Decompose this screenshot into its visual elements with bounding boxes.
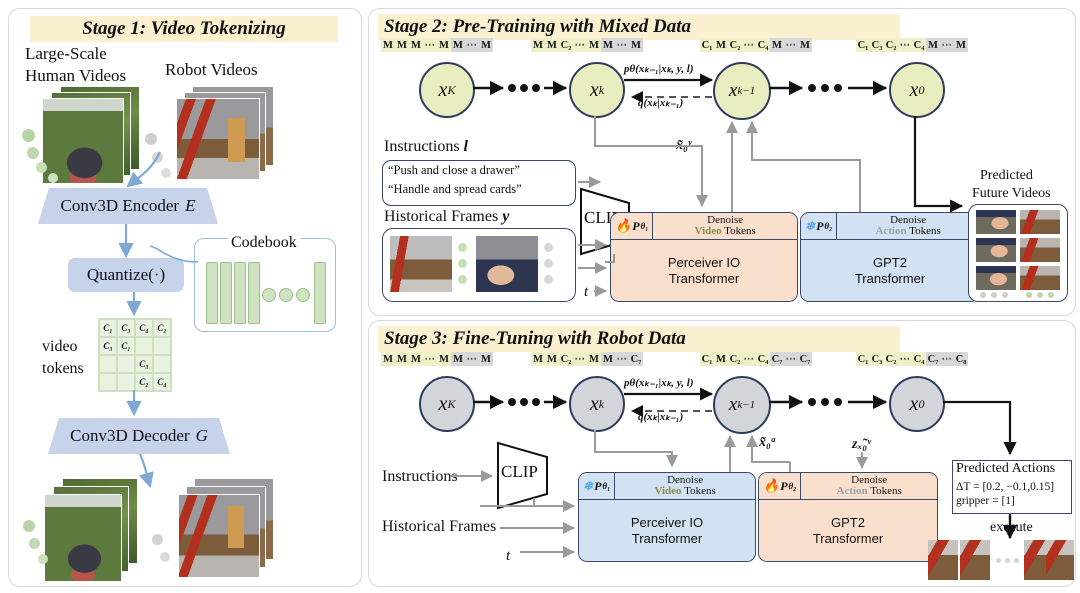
stage2-action-denoise: Denoise Action Tokens	[837, 213, 979, 239]
stage3-predicted-actions-line2: gripper = [1]	[956, 495, 1015, 507]
token-chip: ⋯	[898, 38, 912, 52]
denoise-kind: Action	[875, 225, 906, 237]
token-chip: ⋯	[423, 38, 437, 52]
stage3-t-label: t	[506, 548, 510, 565]
stage2-predicted-label-2: Future Videos	[972, 186, 1051, 202]
stage2-video-module-header: 🔥 Pθ₁ Denoise Video Tokens	[611, 213, 797, 240]
stage3-token-row-1: MMM⋯MM⋯M	[381, 352, 493, 366]
stage2-node-xk-1: xk−1	[713, 62, 771, 120]
stage2-p-forward: pθ(xₖ₋₁|xₖ, y, l)	[624, 62, 694, 75]
token-chip: C₄	[912, 38, 926, 52]
token-chip: ⋯	[898, 352, 912, 366]
token-chip: C₂	[884, 352, 898, 366]
token-cell	[153, 337, 171, 355]
token-cell: C₃	[135, 355, 153, 373]
node-label: x	[729, 80, 737, 102]
denoise-kind: Video	[695, 225, 722, 237]
human-videos-label-line2: Human Videos	[25, 66, 126, 86]
node-label: x	[910, 79, 919, 102]
token-chip: M	[409, 352, 423, 366]
stage2-action-module-header: ❄ Pθ₂ Denoise Action Tokens	[801, 213, 979, 240]
gray-dot-1	[145, 133, 157, 145]
stage3-z-xtilde-v-label: zₓ̃₀ᵛ	[852, 437, 871, 453]
stage2-token-row-4: C₁C₃C₂⋯C₄M⋯M	[856, 38, 968, 52]
instructions-symbol: l	[464, 138, 468, 155]
robot-video-frame-1	[176, 98, 260, 180]
stage3-video-module[interactable]: ❄ Pθ₁ Denoise Video Tokens Perceiver IO …	[578, 472, 756, 562]
stage2-predicted-label-1: Predicted	[980, 168, 1033, 184]
token-chip: M	[531, 352, 545, 366]
body-line2: Transformer	[632, 531, 702, 547]
stage2-node-xK: xK	[419, 62, 475, 118]
param-label: P	[780, 479, 787, 494]
token-chip: C₂	[728, 352, 742, 366]
token-cell: C₄	[135, 319, 153, 337]
node-label: x	[590, 79, 599, 102]
token-chip: ⋯	[742, 352, 756, 366]
stage3-xtilde-a-label: x̃₀ᵃ	[759, 435, 775, 451]
token-cell: C₁	[117, 337, 135, 355]
conv3d-decoder-symbol: G	[196, 426, 208, 446]
token-cell	[153, 355, 171, 373]
stage2-pred-frame-r2c1	[976, 238, 1016, 262]
stage2-node-x0: x0	[889, 62, 945, 118]
stage2-pred-gray-dot-3	[1002, 292, 1008, 298]
video-tokens-label-line1: video	[42, 338, 78, 356]
stage3-action-param: 🔥 Pθ₂	[759, 473, 801, 499]
stage2-hist-green-dot-2	[458, 259, 467, 268]
node-sub: 0	[918, 83, 924, 98]
param-label: P	[632, 219, 639, 234]
stage2-historical-frame-robot	[390, 236, 452, 292]
stage3-node-x0: x0	[889, 376, 945, 432]
node-label: x	[910, 393, 919, 416]
conv3d-encoder-label: Conv3D Encoder	[61, 196, 180, 216]
token-cell	[99, 355, 117, 373]
denoise-tail: Tokens	[682, 485, 716, 497]
gray-dot-3	[161, 168, 171, 178]
recon-green-dot-2	[29, 538, 40, 549]
node-sub: k−1	[737, 85, 755, 97]
token-cell: C₃	[117, 319, 135, 337]
denoise-line2: Action Tokens	[875, 226, 940, 237]
recon-human-frame-1	[44, 494, 122, 582]
stage3-action-module-header: 🔥 Pθ₂ Denoise Action Tokens	[759, 473, 937, 500]
token-chip: C₇	[629, 352, 643, 366]
node-sub: k	[599, 83, 604, 98]
token-chip: M	[381, 352, 395, 366]
token-chip: M	[629, 38, 643, 52]
stage2-action-module[interactable]: ❄ Pθ₂ Denoise Action Tokens GPT2 Transfo…	[800, 212, 980, 302]
token-chip: C₁	[700, 352, 714, 366]
stage3-token-row-2: MMC₂⋯MM⋯C₇	[531, 352, 643, 366]
denoise-kind: Video	[654, 485, 681, 497]
body-line2: Transformer	[813, 531, 883, 547]
stage2-video-module[interactable]: 🔥 Pθ₁ Denoise Video Tokens Perceiver IO …	[610, 212, 798, 302]
stage3-video-module-header: ❄ Pθ₁ Denoise Video Tokens	[579, 473, 755, 500]
body-line1: Perceiver IO	[631, 515, 703, 531]
human-videos-label-line1: Large-Scale	[25, 44, 107, 64]
node-label: x	[729, 394, 737, 416]
token-chip: C₈	[954, 352, 968, 366]
fire-icon: 🔥	[615, 218, 631, 234]
stage3-action-module[interactable]: 🔥 Pθ₂ Denoise Action Tokens GPT2 Transfo…	[758, 472, 938, 562]
token-chip: C₁	[856, 352, 870, 366]
token-chip: ⋯	[940, 38, 954, 52]
token-chip: C₄	[756, 352, 770, 366]
token-chip: C₇	[770, 352, 784, 366]
stage2-pred-frame-r3c2	[1020, 266, 1060, 290]
quantize-label: Quantize(·)	[87, 265, 165, 285]
token-chip: M	[437, 352, 451, 366]
token-cell	[99, 373, 117, 391]
stage2-instruction-2: “Handle and spread cards”	[388, 182, 522, 197]
token-chip: M	[601, 38, 615, 52]
token-cell	[117, 373, 135, 391]
token-chip: M	[545, 352, 559, 366]
stage2-action-param: ❄ Pθ₂	[801, 213, 837, 239]
human-video-frame-1	[42, 98, 124, 184]
stage3-video-param: ❄ Pθ₁	[579, 473, 615, 499]
token-chip: M	[714, 352, 728, 366]
node-label: x	[590, 393, 599, 416]
stage2-token-row-1: MMM⋯MM⋯M	[381, 38, 493, 52]
token-chip: ⋯	[784, 38, 798, 52]
stage3-historical-label: Historical Frames	[382, 518, 496, 536]
recon-green-dot-1	[23, 520, 35, 532]
param-sub: θ₁	[602, 481, 610, 491]
node-sub: k−1	[737, 399, 755, 411]
snowflake-icon: ❄	[583, 479, 593, 494]
body-line1: GPT2	[873, 255, 907, 271]
node-sub: K	[447, 397, 455, 412]
token-chip: M	[770, 38, 784, 52]
denoise-tail: Tokens	[722, 225, 756, 237]
token-chip: ⋯	[573, 352, 587, 366]
token-chip: M	[601, 352, 615, 366]
denoise-tail: Tokens	[868, 485, 902, 497]
denoise-line2: Video Tokens	[654, 486, 715, 497]
token-chip: M	[545, 38, 559, 52]
codebook-bar-1	[206, 262, 218, 324]
stage3-exec-dot-2	[1005, 558, 1010, 563]
denoise-tail: Tokens	[907, 225, 941, 237]
token-chip: C₁	[700, 38, 714, 52]
green-dot-4	[48, 173, 58, 183]
stage2-hist-gray-dot-1	[544, 243, 553, 252]
stage3-instructions-label: Instructions	[382, 468, 458, 486]
codebook-ellipsis-dot-2	[279, 288, 293, 302]
token-chip: ⋯	[940, 352, 954, 366]
stage3-action-body: GPT2 Transformer	[759, 500, 937, 562]
token-chip: M	[395, 352, 409, 366]
token-chip: C₄	[756, 38, 770, 52]
stage2-pred-green-dot-2	[1037, 292, 1043, 298]
stage3-q-reverse: q(xₖ|xₖ₋₁)	[638, 410, 683, 423]
token-chip: ⋯	[465, 38, 479, 52]
stage3-exec-frame-4	[1046, 540, 1074, 580]
token-chip: M	[531, 38, 545, 52]
token-chip: M	[587, 38, 601, 52]
token-cell: C₁	[99, 319, 117, 337]
codebook-label: Codebook	[228, 234, 300, 252]
denoise-kind: Action	[837, 485, 868, 497]
stage2-video-param: 🔥 Pθ₁	[611, 213, 653, 239]
robot-block-icon	[228, 118, 245, 162]
param-label: P	[816, 219, 823, 234]
stage3-title: Stage 3: Fine-Tuning with Robot Data	[378, 326, 900, 352]
stage3-predicted-actions-line1: ΔT = [0.2, −0.1,0.15]	[956, 481, 1054, 493]
stage3-predicted-actions-title: Predicted Actions	[956, 461, 1055, 477]
stage3-video-body: Perceiver IO Transformer	[579, 500, 755, 562]
codebook-ellipsis-dot-1	[262, 288, 276, 302]
stage2-xtilde-v-label: x̃₀ᵛ	[676, 138, 692, 154]
stage2-pred-frame-r1c2	[1020, 210, 1060, 234]
token-chip: M	[479, 352, 493, 366]
stage2-pred-frame-r2c2	[1020, 238, 1060, 262]
token-chip: M	[798, 38, 812, 52]
token-chip: C₄	[912, 352, 926, 366]
body-line1: GPT2	[831, 515, 865, 531]
denoise-line2: Video Tokens	[695, 226, 756, 237]
historical-text: Historical Frames	[384, 208, 498, 225]
token-cell: C₃	[99, 337, 117, 355]
green-dot-3	[36, 162, 47, 173]
recon-gray-dot-1	[152, 534, 163, 545]
codebook-bar-4	[248, 262, 260, 324]
stage2-token-row-3: C₁MC₂⋯C₄M⋯M	[700, 38, 812, 52]
historical-symbol: y	[502, 208, 509, 225]
stage2-pred-frame-r1c1	[976, 210, 1016, 234]
stage2-q-reverse: q(xₖ|xₖ₋₁)	[638, 96, 683, 109]
stage3-node-xK: xK	[419, 376, 475, 432]
token-chip: C₇	[798, 352, 812, 366]
token-chip: M	[587, 352, 601, 366]
body-line2: Transformer	[669, 271, 739, 287]
token-chip: ⋯	[423, 352, 437, 366]
stage2-pred-green-dot-3	[1048, 292, 1054, 298]
param-sub: θ₁	[641, 221, 649, 231]
stage2-historical-frame-human	[476, 236, 538, 292]
token-chip: ⋯	[784, 352, 798, 366]
token-chip: M	[409, 38, 423, 52]
param-label: P	[594, 479, 601, 494]
denoise-line2: Action Tokens	[837, 486, 902, 497]
token-chip: M	[479, 38, 493, 52]
token-cell: C₂	[153, 319, 171, 337]
recon-gray-dot-2	[160, 552, 170, 562]
token-chip: ⋯	[615, 352, 629, 366]
token-chip: M	[381, 38, 395, 52]
token-chip: M	[451, 352, 465, 366]
stage2-title: Stage 2: Pre-Training with Mixed Data	[378, 14, 900, 40]
token-chip: M	[926, 38, 940, 52]
stage3-exec-dot-1	[996, 558, 1001, 563]
token-chip: M	[451, 38, 465, 52]
token-cell: C₄	[153, 373, 171, 391]
stage3-node-xk-1: xk−1	[713, 376, 771, 434]
token-chip: M	[395, 38, 409, 52]
token-chip: M	[714, 38, 728, 52]
stage2-token-row-2: MMC₂⋯MM⋯M	[531, 38, 643, 52]
token-chip: C₁	[856, 38, 870, 52]
stage3-p-forward: pθ(xₖ₋₁|xₖ, y, l)	[624, 376, 694, 389]
gray-dot-2	[152, 152, 163, 163]
token-chip: M	[437, 38, 451, 52]
stage2-node-xk: xk	[569, 62, 625, 118]
green-dot-1	[22, 129, 35, 142]
token-chip: ⋯	[573, 38, 587, 52]
codebook-bar-5	[314, 262, 326, 324]
stage2-pred-gray-dot-2	[991, 292, 997, 298]
token-chip: C₂	[884, 38, 898, 52]
body-line2: Transformer	[855, 271, 925, 287]
codebook-bar-2	[220, 262, 232, 324]
stage2-hist-gray-dot-2	[544, 259, 553, 268]
token-chip: C₂	[728, 38, 742, 52]
figure-root: Stage 1: Video Tokenizing Large-Scale Hu…	[0, 0, 1080, 593]
codebook-bar-3	[234, 262, 246, 324]
stage3-exec-frame-1	[928, 540, 958, 580]
recon-green-dot-3	[38, 554, 48, 564]
quantize-block: Quantize(·)	[68, 258, 184, 292]
stage3-action-denoise: Denoise Action Tokens	[801, 473, 937, 499]
stage2-t-label: t	[584, 284, 588, 301]
token-chip: ⋯	[742, 38, 756, 52]
robot-videos-label: Robot Videos	[165, 60, 258, 80]
stage3-execute-label: execute	[990, 520, 1033, 536]
token-cell	[117, 355, 135, 373]
node-sub: k	[599, 397, 604, 412]
codebook-ellipsis-dot-3	[296, 288, 310, 302]
node-sub: K	[447, 83, 455, 98]
token-chip: C₂	[559, 352, 573, 366]
stage2-hist-green-dot-3	[458, 275, 467, 284]
stage3-exec-frame-2	[960, 540, 990, 580]
stage2-hist-gray-dot-3	[544, 275, 553, 284]
node-sub: 0	[918, 397, 924, 412]
recon-robot-frame-1	[178, 494, 260, 578]
token-chip: C₃	[870, 352, 884, 366]
token-cell	[135, 337, 153, 355]
token-chip: C₇	[926, 352, 940, 366]
conv3d-decoder-label: Conv3D Decoder	[70, 426, 189, 446]
token-chip: C₂	[559, 38, 573, 52]
token-cell: C₂	[135, 373, 153, 391]
token-chip: ⋯	[465, 352, 479, 366]
stage1-title: Stage 1: Video Tokenizing	[30, 16, 338, 42]
video-token-grid: C₁ C₃ C₄ C₂ C₃ C₁ C₃ C₂ C₄	[98, 318, 172, 392]
green-dot-2	[27, 147, 39, 159]
stage2-pred-gray-dot-1	[980, 292, 986, 298]
stage2-action-body: GPT2 Transformer	[801, 240, 979, 302]
param-sub: θ₂	[824, 221, 832, 231]
stage2-video-denoise: Denoise Video Tokens	[653, 213, 797, 239]
stage3-token-row-4: C₁C₃C₂⋯C₄C₇⋯C₈	[856, 352, 968, 366]
stage2-video-body: Perceiver IO Transformer	[611, 240, 797, 302]
stage3-video-denoise: Denoise Video Tokens	[615, 473, 755, 499]
conv3d-decoder-block: Conv3D Decoder G	[48, 418, 230, 454]
instructions-text: Instructions	[384, 138, 460, 155]
video-tokens-label-line2: tokens	[42, 360, 84, 378]
conv3d-encoder-symbol: E	[185, 196, 195, 216]
token-chip: C₃	[870, 38, 884, 52]
token-chip: M	[954, 38, 968, 52]
stage2-pred-green-dot-1	[1026, 292, 1032, 298]
param-sub: θ₂	[789, 481, 797, 491]
token-chip: ⋯	[615, 38, 629, 52]
conv3d-encoder-block: Conv3D Encoder E	[38, 188, 218, 224]
stage2-historical-label: Historical Frames y	[384, 208, 509, 226]
stage2-instruction-1: “Push and close a drawer”	[388, 163, 520, 178]
snowflake-icon: ❄	[805, 219, 815, 234]
fire-icon: 🔥	[763, 478, 779, 494]
recon-robot-block-icon	[228, 506, 244, 548]
stage2-instructions-label: Instructions l	[384, 138, 468, 156]
stage2-hist-green-dot-1	[458, 243, 467, 252]
stage3-node-xk: xk	[569, 376, 625, 432]
stage2-pred-frame-r3c1	[976, 266, 1016, 290]
stage3-exec-dot-3	[1014, 558, 1019, 563]
stage3-clip-label: CLIP	[501, 462, 538, 482]
body-line1: Perceiver IO	[668, 255, 740, 271]
stage3-token-row-3: C₁MC₂⋯C₄C₇⋯C₇	[700, 352, 812, 366]
